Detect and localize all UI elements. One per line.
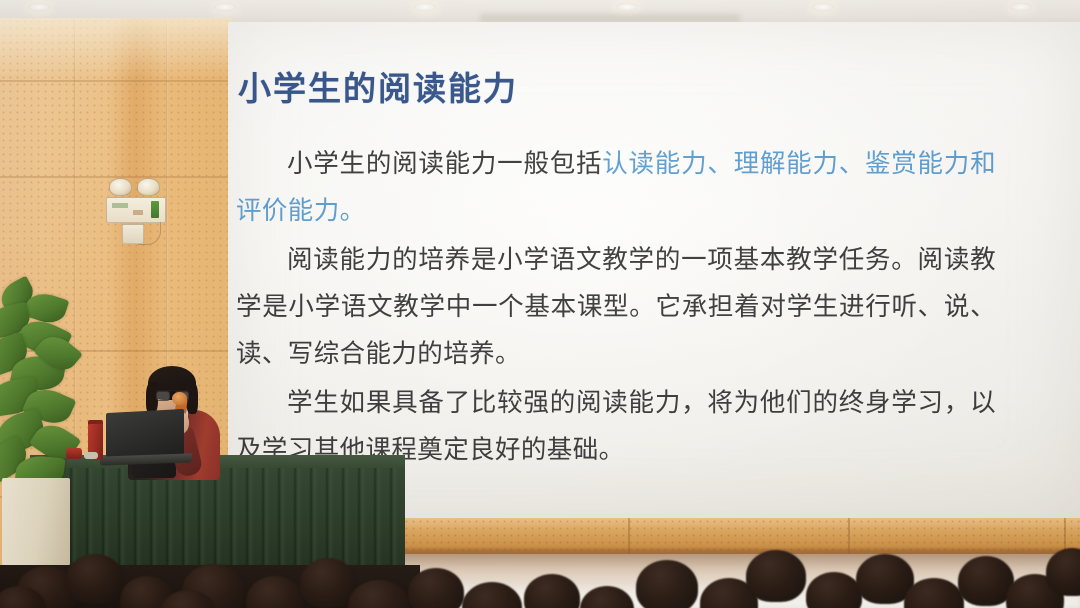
paragraph-3-segment-1: 学生如果具备了比较强的阅读能力，将为他们的终身学习，以及学习其他课程奠定良好的基… bbox=[236, 388, 996, 464]
lecture-photo-frame: 小学生的阅读能力 小学生的阅读能力一般包括认读能力、理解能力、鉴赏能力和评价能力… bbox=[0, 0, 1080, 608]
audience-head bbox=[66, 554, 124, 604]
audience-head bbox=[806, 572, 862, 608]
emergency-label-secondary bbox=[133, 210, 143, 215]
audience-head bbox=[524, 574, 580, 608]
audience-head bbox=[408, 568, 464, 608]
glasses-lens-left bbox=[156, 391, 170, 401]
audience-head bbox=[746, 550, 806, 602]
audience-head bbox=[348, 580, 410, 608]
emergency-lamp-head-left bbox=[109, 178, 132, 196]
emergency-lamp-head-right bbox=[137, 178, 160, 196]
ceiling-downlight-icon bbox=[28, 3, 50, 11]
audience-head bbox=[636, 560, 698, 608]
projection-screen: 小学生的阅读能力 小学生的阅读能力一般包括认读能力、理解能力、鉴赏能力和评价能力… bbox=[228, 22, 1080, 522]
desk-small-object bbox=[84, 452, 98, 459]
emergency-label bbox=[112, 203, 128, 208]
small-red-cup bbox=[66, 448, 82, 459]
paragraph-1-segment-1: 小学生的阅读能力一般包括 bbox=[287, 149, 602, 178]
emergency-indicator-icon bbox=[151, 201, 159, 218]
wall-seam-horizontal bbox=[0, 80, 232, 82]
slide-paragraph-2: 阅读能力的培养是小学语文教学的一项基本教学任务。阅读教学是小学语文教学中一个基本… bbox=[236, 236, 996, 377]
audience-head bbox=[246, 576, 304, 608]
slide-title: 小学生的阅读能力 bbox=[238, 62, 518, 110]
audience-silhouettes bbox=[0, 520, 1080, 608]
slide-body-text: 小学生的阅读能力一般包括认读能力、理解能力、鉴赏能力和评价能力。 阅读能力的培养… bbox=[236, 140, 996, 475]
paragraph-2-segment-1: 阅读能力的培养是小学语文教学的一项基本教学任务。阅读教学是小学语文教学中一个基本… bbox=[236, 245, 996, 368]
slide-paragraph-1: 小学生的阅读能力一般包括认读能力、理解能力、鉴赏能力和评价能力。 bbox=[236, 140, 996, 234]
paragraph-1-segment-3: 。 bbox=[340, 196, 366, 225]
ceiling-downlight-icon bbox=[1010, 3, 1032, 11]
microphone-head bbox=[172, 392, 187, 405]
emergency-light-icon bbox=[104, 178, 166, 246]
audience-head bbox=[580, 586, 634, 608]
emergency-wire bbox=[138, 222, 161, 245]
audience-head bbox=[1046, 548, 1080, 596]
ceiling-downlight-icon bbox=[414, 3, 436, 11]
ceiling-downlight-icon bbox=[214, 3, 236, 11]
audience-head bbox=[462, 582, 522, 608]
emergency-light-body bbox=[106, 197, 166, 223]
ceiling-downlight-icon bbox=[812, 3, 834, 11]
wall-light-glow bbox=[0, 18, 232, 78]
ceiling-downlight-icon bbox=[616, 3, 638, 11]
